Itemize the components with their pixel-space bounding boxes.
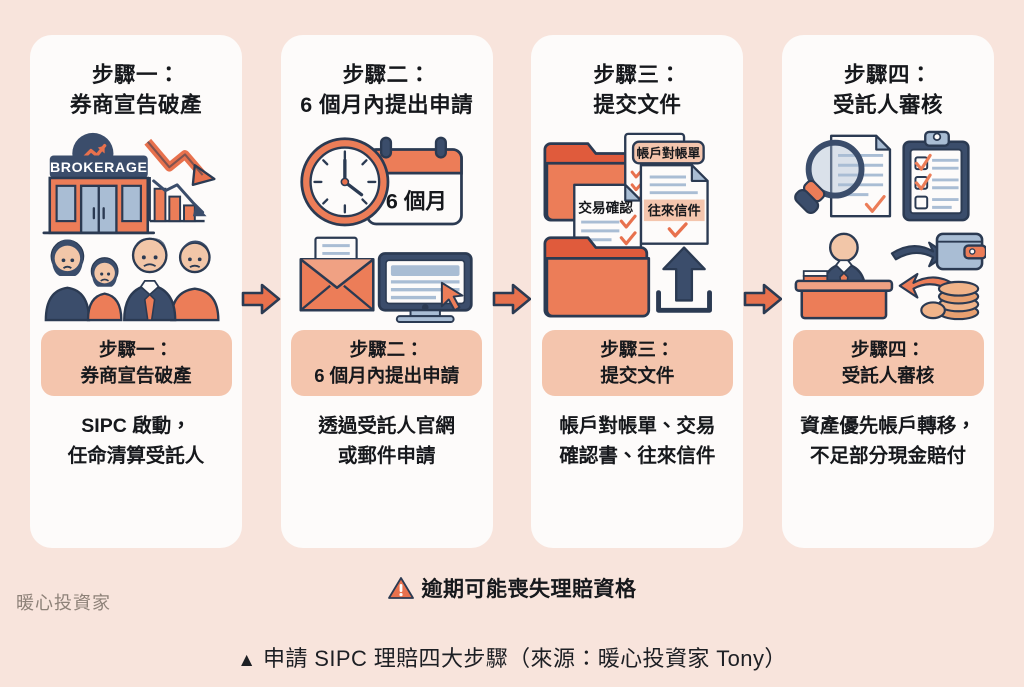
- step-1-badge-line2: 券商宣告破產: [80, 363, 191, 389]
- infographic-canvas: 步驟一： 券商宣告破產 BROKERAGE: [0, 0, 1024, 687]
- step-4-title: 步驟四： 受託人審核: [833, 61, 943, 120]
- step-3-title-line2: 提交文件: [593, 91, 681, 121]
- submit-documents-illustration: 帳戶對帳單 往來信件 交易確認: [539, 128, 735, 324]
- step-4-badge-line2: 受託人審核: [842, 363, 935, 389]
- arrow-gap-1: [242, 35, 281, 548]
- step-1-title-line1: 步驟一：: [92, 63, 180, 87]
- warning-row: 逾期可能喪失理賠資格: [0, 573, 1024, 603]
- step-1-title-line2: 券商宣告破產: [70, 91, 202, 121]
- step-card-4: 步驟四： 受託人審核: [782, 35, 994, 548]
- arrow-right-icon-2: [492, 282, 532, 316]
- step-card-1: 步驟一： 券商宣告破產 BROKERAGE: [30, 35, 242, 548]
- step-3-title: 步驟三： 提交文件: [593, 61, 681, 120]
- step-4-description: 資產優先帳戶轉移， 不足部分現金賠付: [789, 412, 987, 471]
- step-card-2: 步驟二： 6 個月內提出申請 6 個月: [281, 35, 493, 548]
- step-2-title-line2: 6 個月內提出申請: [300, 91, 473, 121]
- figure-caption: ▲ 申請 SIPC 理賠四大步驟（來源：暖心投資家 Tony）: [0, 641, 1024, 673]
- step-4-badge: 步驟四： 受託人審核: [793, 330, 984, 396]
- step-1-badge-line1: 步驟一：: [99, 337, 173, 363]
- step-2-description: 透過受託人官網 或郵件申請: [288, 412, 486, 471]
- step-3-desc-line2: 確認書、往來信件: [538, 442, 736, 471]
- brokerage-sign-text: BROKERAGE: [50, 160, 148, 176]
- warning-triangle-icon: [388, 576, 414, 600]
- trustee-review-illustration: [790, 128, 986, 324]
- step-4-title-line2: 受託人審核: [833, 91, 943, 121]
- warning-text: 逾期可能喪失理賠資格: [422, 573, 637, 603]
- step-2-badge-line1: 步驟二：: [350, 337, 424, 363]
- caption-triangle-marker: ▲: [237, 650, 256, 671]
- step-1-desc-line2: 任命清算受託人: [37, 442, 235, 471]
- step-2-title-line1: 步驟二：: [343, 63, 431, 87]
- arrow-gap-2: [493, 35, 532, 548]
- calendar-months-text: 6 個月: [386, 189, 447, 214]
- doc-label-correspondence: 往來信件: [648, 203, 701, 219]
- step-3-title-line1: 步驟三：: [593, 63, 681, 87]
- step-3-badge-line2: 提交文件: [600, 363, 674, 389]
- step-card-3: 步驟三： 提交文件 帳戶對帳單: [531, 35, 743, 548]
- step-3-desc-line1: 帳戶對帳單、交易: [559, 415, 715, 437]
- step-4-badge-line1: 步驟四：: [851, 337, 925, 363]
- step-1-description: SIPC 啟動， 任命清算受託人: [37, 412, 235, 471]
- step-1-desc-line1: SIPC 啟動，: [81, 415, 190, 437]
- caption-text: 申請 SIPC 理賠四大步驟（來源：暖心投資家 Tony）: [263, 646, 787, 671]
- step-2-desc-line1: 透過受託人官網: [318, 415, 455, 437]
- step-2-desc-line2: 或郵件申請: [288, 442, 486, 471]
- step-4-title-line1: 步驟四：: [844, 63, 932, 87]
- step-2-title: 步驟二： 6 個月內提出申請: [300, 61, 473, 120]
- doc-label-statement: 帳戶對帳單: [637, 146, 701, 161]
- step-3-description: 帳戶對帳單、交易 確認書、往來信件: [538, 412, 736, 471]
- deadline-application-illustration: 6 個月: [289, 128, 485, 324]
- doc-label-trade-confirm: 交易確認: [579, 200, 634, 216]
- step-4-desc-line1: 資產優先帳戶轉移，: [800, 415, 976, 437]
- step-3-badge: 步驟三： 提交文件: [542, 330, 733, 396]
- arrow-right-icon-3: [743, 282, 783, 316]
- step-3-badge-line1: 步驟三：: [600, 337, 674, 363]
- arrow-gap-3: [743, 35, 782, 548]
- step-4-desc-line2: 不足部分現金賠付: [789, 442, 987, 471]
- steps-row: 步驟一： 券商宣告破產 BROKERAGE: [0, 0, 1024, 560]
- step-2-badge: 步驟二： 6 個月內提出申請: [291, 330, 482, 396]
- arrow-right-icon-1: [241, 282, 281, 316]
- step-2-badge-line2: 6 個月內提出申請: [314, 363, 459, 389]
- step-1-title: 步驟一： 券商宣告破產: [70, 61, 202, 120]
- step-1-badge: 步驟一： 券商宣告破產: [41, 330, 232, 396]
- brokerage-failure-illustration: BROKERAGE: [38, 128, 234, 324]
